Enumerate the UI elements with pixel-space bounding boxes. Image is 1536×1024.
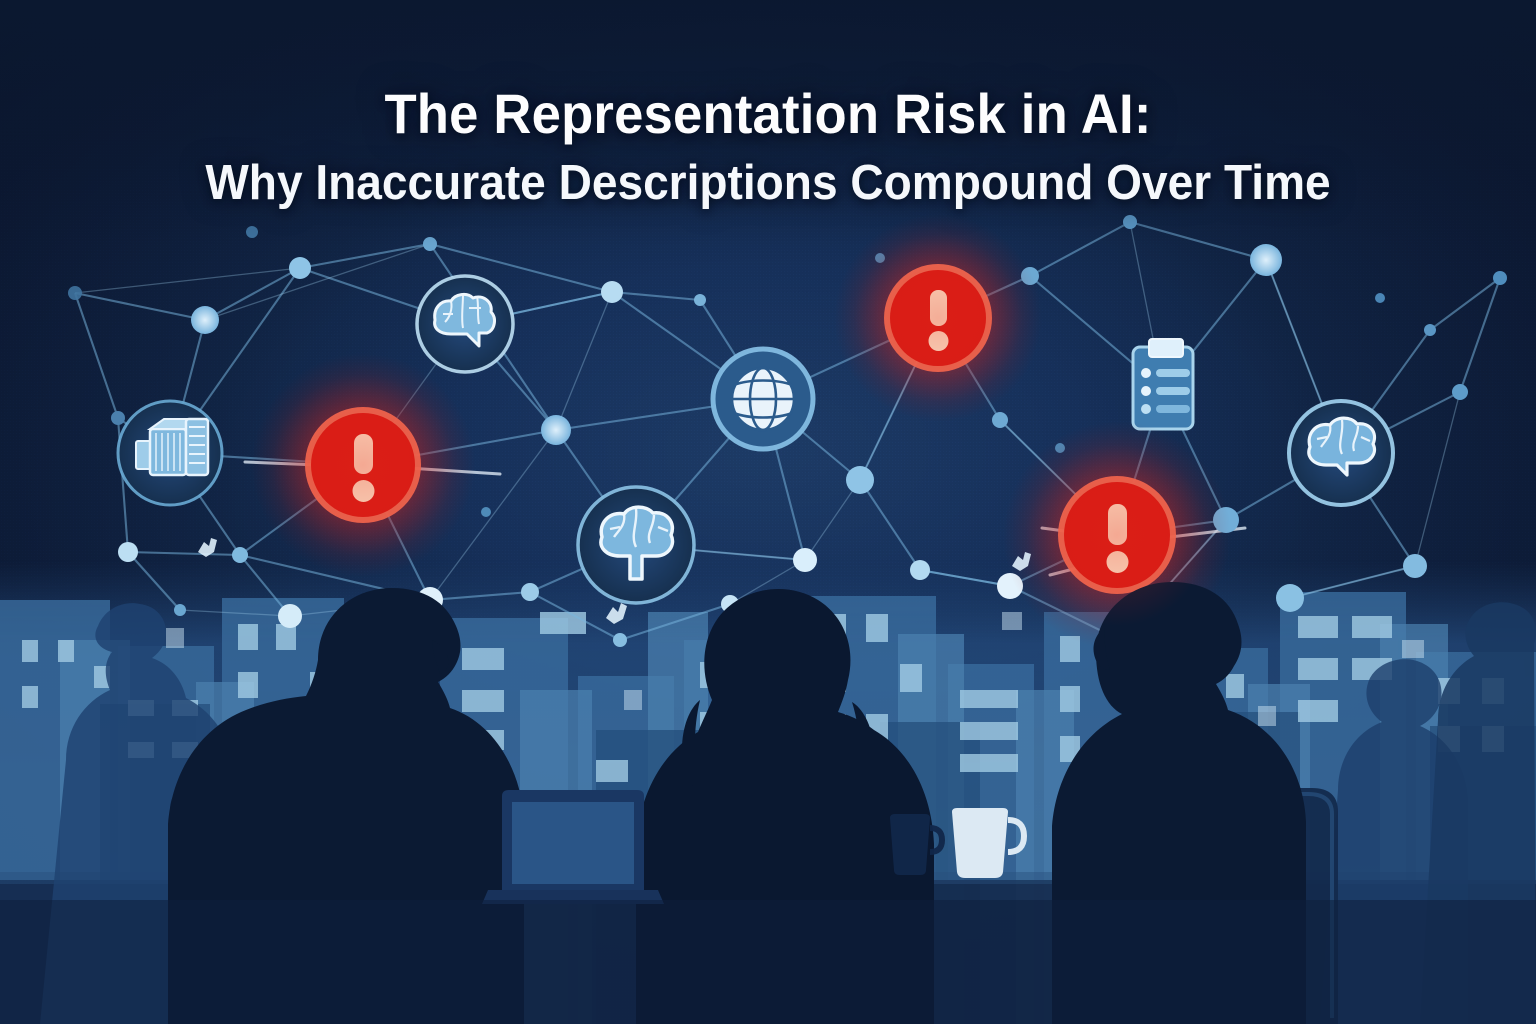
- page-subtitle: Why Inaccurate Descriptions Compound Ove…: [46, 157, 1490, 210]
- poster-title-block: The Representation Risk in AI: Why Inacc…: [0, 84, 1536, 210]
- laptop: [482, 790, 664, 904]
- page-title: The Representation Risk in AI:: [46, 84, 1490, 143]
- conference-table: [0, 900, 1536, 1024]
- poster-canvas: The Representation Risk in AI: Why Inacc…: [0, 0, 1536, 1024]
- coffee-mug: [952, 808, 1024, 878]
- coffee-mug-secondary: [890, 814, 942, 875]
